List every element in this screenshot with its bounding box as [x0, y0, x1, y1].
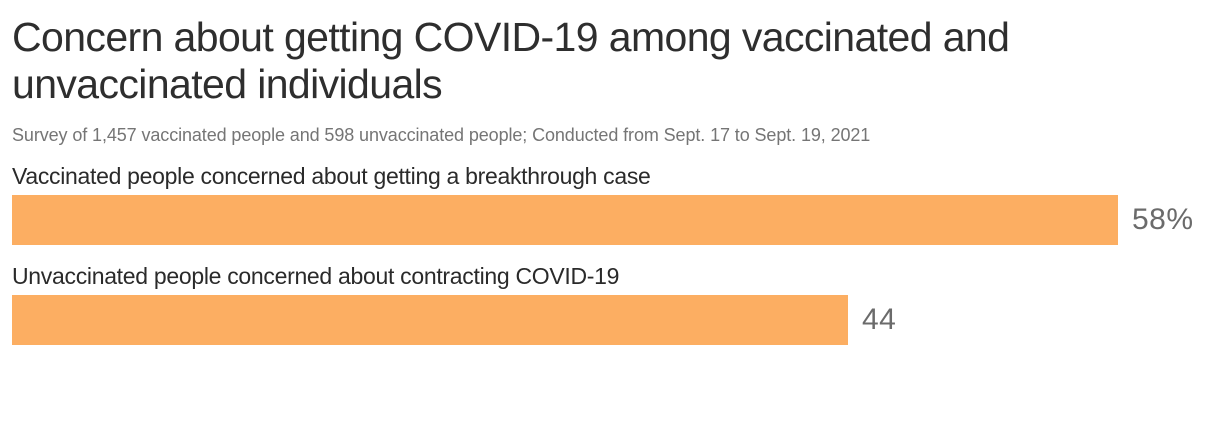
bar-fill — [12, 195, 1118, 245]
chart-title: Concern about getting COVID-19 among vac… — [12, 0, 1208, 108]
bar-group: Vaccinated people concerned about gettin… — [12, 162, 1208, 245]
bar-row: 44 — [12, 295, 1208, 345]
bar-fill — [12, 295, 848, 345]
chart-container: Concern about getting COVID-19 among vac… — [0, 0, 1220, 444]
chart-subtitle: Survey of 1,457 vaccinated people and 59… — [12, 108, 1208, 146]
bar-value-label: 44 — [862, 305, 896, 335]
bar-chart-plot-area: Vaccinated people concerned about gettin… — [12, 162, 1208, 345]
bar-value-label: 58% — [1132, 205, 1194, 235]
bar-row: 58% — [12, 195, 1208, 245]
bar-category-label: Vaccinated people concerned about gettin… — [12, 162, 1208, 190]
bar-category-label: Unvaccinated people concerned about cont… — [12, 262, 1208, 290]
bar-group: Unvaccinated people concerned about cont… — [12, 262, 1208, 345]
